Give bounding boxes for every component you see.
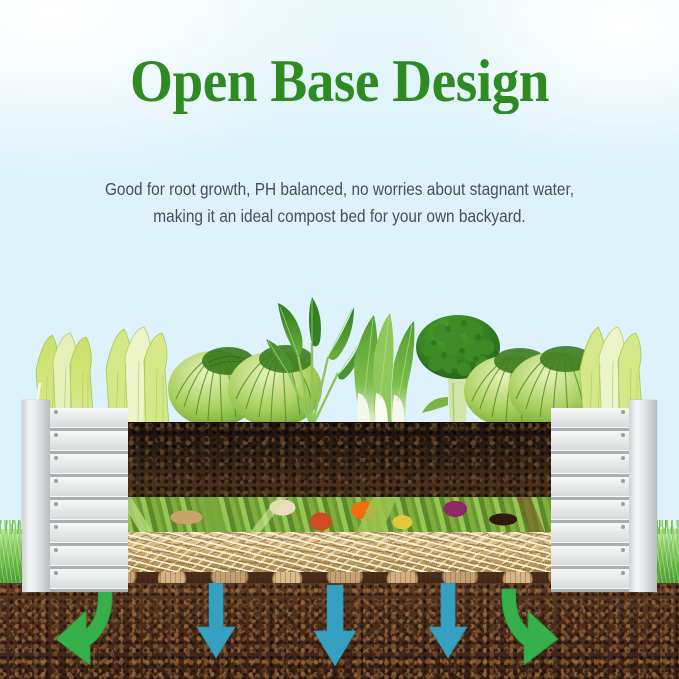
corner-post-right	[629, 400, 657, 592]
panel-slat	[551, 523, 629, 546]
product-infographic: Open Base Design Good for root growth, P…	[0, 0, 679, 679]
water-down-arrow-3	[428, 583, 468, 659]
layer-straw	[100, 532, 580, 572]
panel-slat	[551, 477, 629, 500]
panel-slat	[50, 408, 128, 431]
panel-slat	[50, 500, 128, 523]
panel-slat	[551, 454, 629, 477]
panel-slat	[50, 477, 128, 500]
garden-bed-scene	[0, 292, 679, 679]
panel-slats-right	[551, 408, 629, 592]
panel-slats-left	[50, 408, 128, 592]
panel-slat	[50, 454, 128, 477]
panel-slat	[551, 546, 629, 569]
bed-cross-section	[100, 422, 580, 590]
nutrient-up-arrow-left	[44, 587, 116, 673]
page-title: Open Base Design	[27, 49, 652, 113]
layer-topsoil	[100, 422, 580, 497]
nutrient-up-arrow-right	[498, 587, 570, 673]
panel-slat	[551, 431, 629, 454]
subtitle-line-1: Good for root growth, PH balanced, no wo…	[41, 176, 639, 203]
panel-slat	[551, 408, 629, 431]
bed-panel-left[interactable]	[0, 400, 118, 592]
subtitle-line-2: making it an ideal compost bed for your …	[41, 203, 639, 230]
panel-slat	[551, 569, 629, 592]
panel-slat	[50, 546, 128, 569]
layer-kitchen-scraps	[100, 497, 580, 532]
page-subtitle: Good for root growth, PH balanced, no wo…	[41, 176, 639, 230]
panel-slat	[50, 523, 128, 546]
water-down-arrow-2	[313, 585, 357, 667]
panel-slat	[551, 500, 629, 523]
corner-post-left	[22, 400, 50, 592]
water-down-arrow-1	[196, 583, 236, 659]
panel-slat	[50, 431, 128, 454]
panel-slat	[50, 569, 128, 592]
bed-panel-right[interactable]	[560, 400, 679, 592]
